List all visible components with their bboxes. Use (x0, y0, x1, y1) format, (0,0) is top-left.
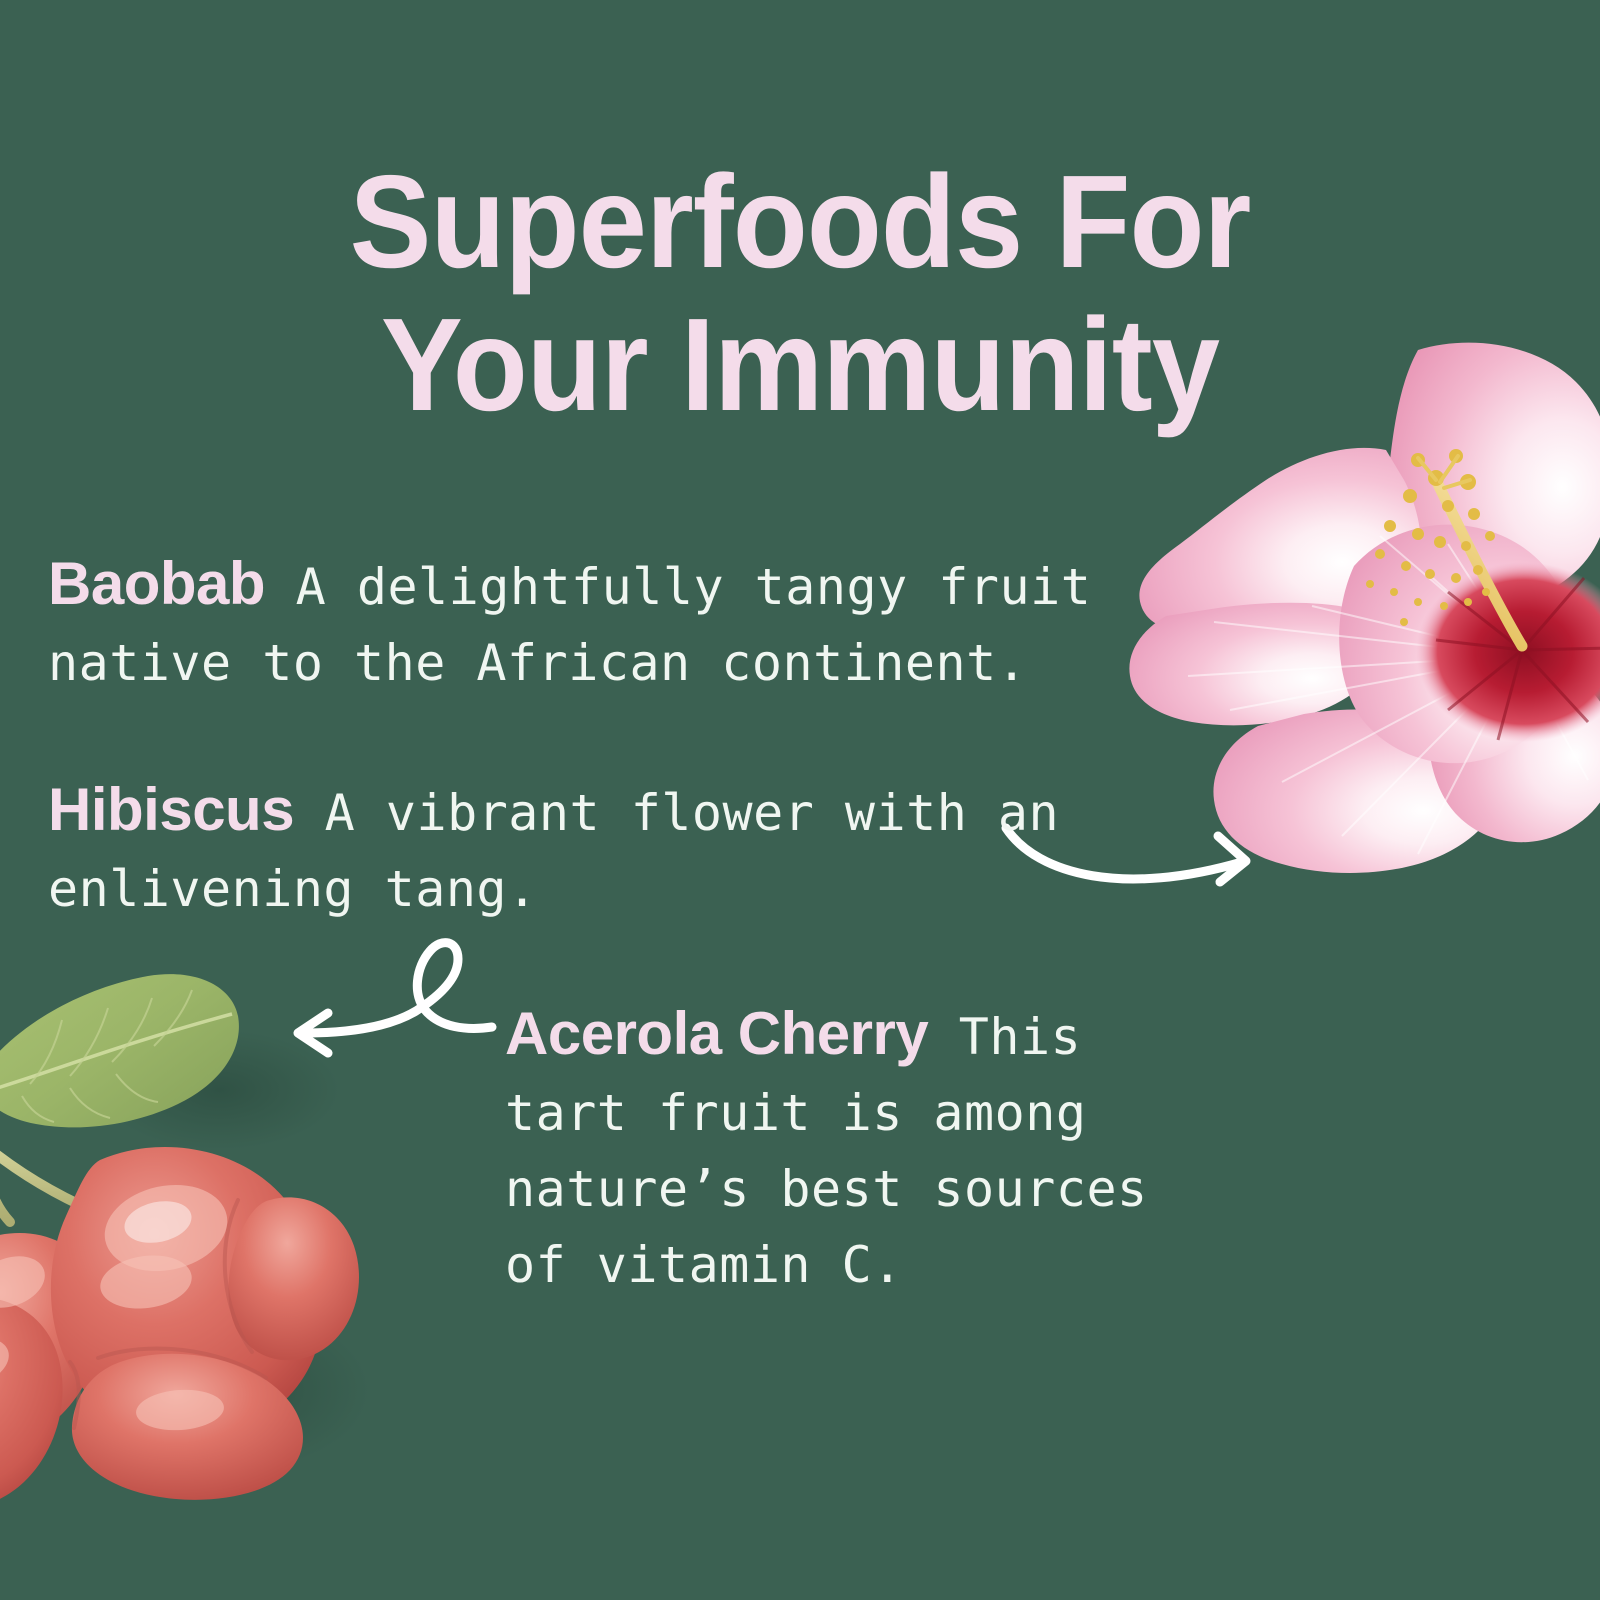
page-title: Superfoods For Your Immunity (56, 150, 1544, 436)
poster-canvas: Superfoods For Your Immunity Baobab A de… (0, 0, 1600, 1600)
superfood-term-hibiscus: Hibiscus (48, 776, 294, 843)
title-line-2: Your Immunity (56, 293, 1544, 436)
superfood-entry-hibiscus: Hibiscus A vibrant flower with an enlive… (48, 772, 1108, 927)
superfood-term-acerola: Acerola Cherry (505, 1000, 928, 1067)
superfood-term-baobab: Baobab (48, 550, 265, 617)
title-line-1: Superfoods For (56, 150, 1544, 293)
acerola-cherry-photo (0, 910, 390, 1520)
superfood-entry-baobab: Baobab A delightfully tangy fruit native… (48, 546, 1228, 701)
superfood-entry-acerola: Acerola Cherry This tart fruit is among … (505, 996, 1225, 1303)
